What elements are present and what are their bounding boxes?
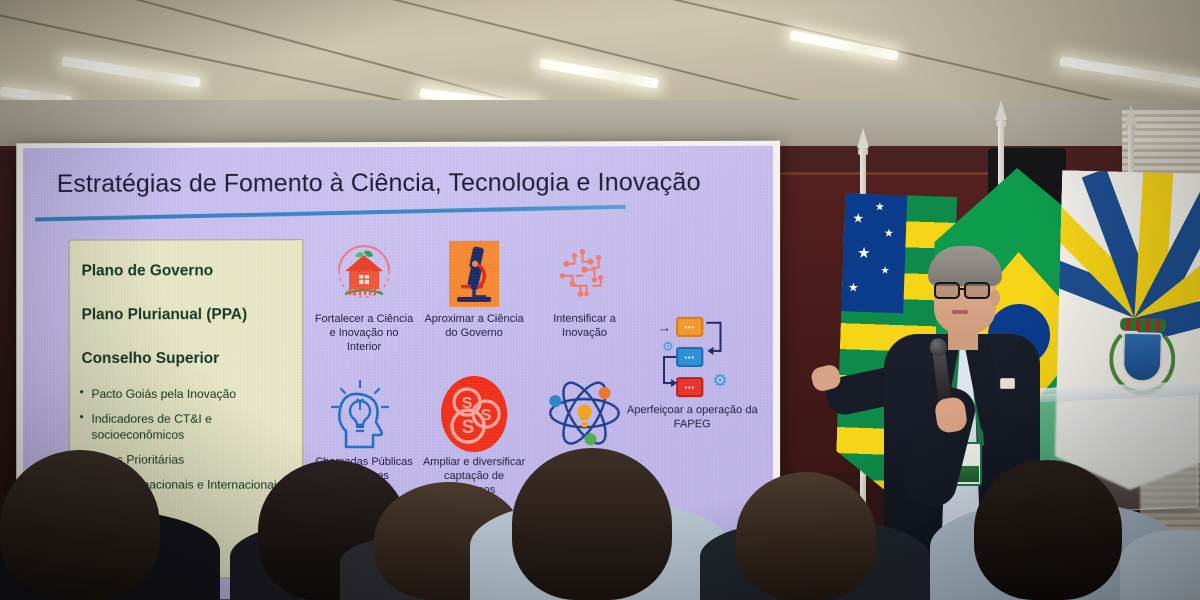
strategy-row-top: Fortalecer a Ciência e Inovação no Inter… — [309, 235, 640, 355]
gear-icon: ⚙ — [712, 371, 727, 391]
flagpole-finial — [995, 100, 1007, 120]
workflow-diagram-icon: ••• ••• ••• → ⚙ ⚙ — [626, 315, 759, 403]
microscope-icon — [419, 235, 529, 313]
ceiling-light — [61, 56, 201, 88]
speaker-hair — [928, 246, 1002, 286]
audience-head — [736, 472, 876, 600]
audience-head — [0, 450, 160, 600]
panel-heading: Conselho Superior — [82, 324, 303, 368]
title-underline — [35, 205, 626, 222]
ceiling — [0, 0, 1200, 104]
flow-caption: Aperfeiçoar a operação da FAPEG — [626, 403, 759, 432]
circuit-brain-icon — [529, 235, 640, 313]
svg-text:S: S — [462, 417, 475, 438]
strategy-caption: Intensificar a Inovação — [529, 313, 640, 341]
ceiling-light — [539, 58, 659, 89]
ceiling-light — [789, 30, 899, 61]
eyeglasses-icon — [934, 282, 998, 299]
strategy-item-funding: S S S Ampliar e diversificar captação de… — [419, 372, 529, 498]
speaker-hand — [934, 396, 968, 434]
strategy-item-interior: Fortalecer a Ciência e Inovação no Inter… — [309, 235, 419, 354]
speaker-mouth — [952, 310, 968, 314]
flagpole-finial — [1125, 104, 1137, 124]
strategy-item-fapeg: ••• ••• ••• → ⚙ ⚙ Aperfeiçoar a operação… — [626, 315, 759, 432]
lapel-pin — [1000, 378, 1015, 389]
strategy-item-government: Aproximar a Ciência do Governo — [419, 235, 529, 355]
atom-lightbulb-icon — [529, 372, 640, 456]
conference-room-scene: ★ ★ ★ ★ ★ ★ Estratégias de Fomento à Ciê… — [0, 0, 1200, 600]
list-item: Pacto Goiás pela Inovação — [80, 386, 303, 402]
audience-shoulders — [1120, 530, 1200, 600]
list-item: Indicadores de CT&I e socioeconômicos — [80, 411, 303, 443]
strategy-caption: Fortalecer a Ciência e Inovação no Inter… — [309, 313, 419, 354]
money-coins-icon: S S S — [419, 372, 529, 456]
strategy-item-innovation: Intensificar a Inovação — [529, 235, 640, 355]
audience-head — [974, 460, 1122, 600]
slide-title: Estratégias de Fomento à Ciência, Tecnol… — [57, 168, 701, 199]
strategy-caption: Aproximar a Ciência do Governo — [419, 313, 529, 341]
panel-heading: Plano Plurianual (PPA) — [82, 280, 303, 324]
head-lightbulb-icon — [309, 372, 419, 456]
audience-head — [512, 448, 672, 600]
ceiling-light — [1059, 56, 1200, 89]
rural-house-icon — [309, 235, 419, 313]
panel-heading: Plano de Governo — [82, 240, 303, 280]
flagpole-finial — [857, 128, 869, 148]
gear-icon: ⚙ — [662, 339, 674, 355]
